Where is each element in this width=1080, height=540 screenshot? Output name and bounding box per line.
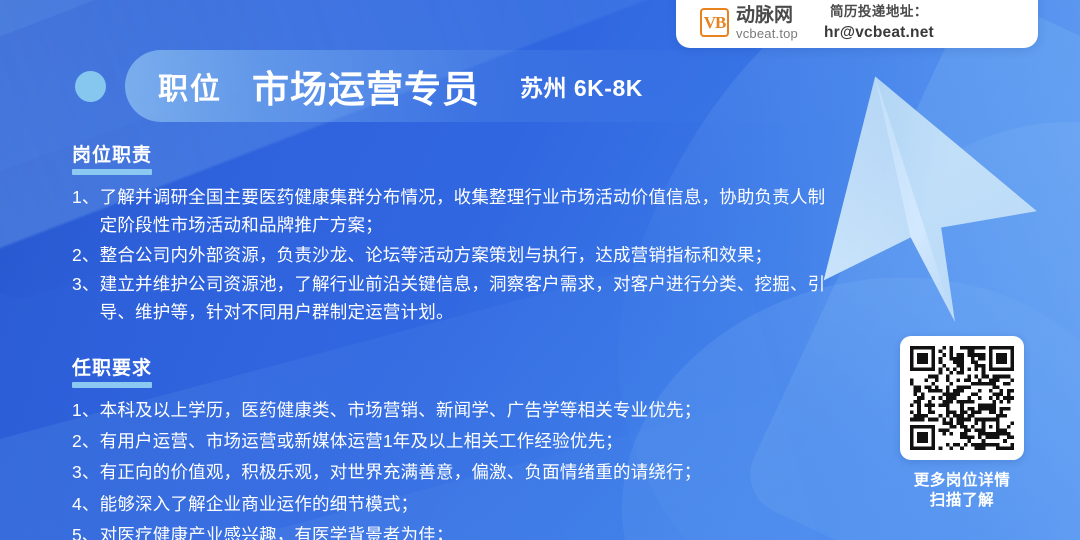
list-item-text: 对医疗健康产业感兴趣，有医学背景者为佳； bbox=[100, 521, 842, 540]
list-item-number: 1、 bbox=[72, 396, 100, 424]
brand-name-en: vcbeat.top bbox=[736, 27, 798, 40]
list-item-text: 有用户运营、市场运营或新媒体运营1年及以上相关工作经验优先； bbox=[100, 427, 842, 455]
qr-caption-line1: 更多岗位详情 bbox=[914, 471, 1011, 491]
list-item-text: 建立并维护公司资源池，了解行业前沿关键信息，洞察客户需求，对客户进行分类、挖掘、… bbox=[100, 270, 842, 327]
list-item-number: 2、 bbox=[72, 241, 100, 269]
brand-name-cn: 动脉网 bbox=[736, 6, 798, 25]
list-item: 5、 对医疗健康产业感兴趣，有医学背景者为佳； bbox=[72, 521, 842, 540]
list-item-text: 本科及以上学历，医药健康类、市场营销、新闻学、广告学等相关专业优先； bbox=[100, 396, 842, 424]
list-item-number: 3、 bbox=[72, 458, 100, 486]
list-item: 3、 建立并维护公司资源池，了解行业前沿关键信息，洞察客户需求，对客户进行分类、… bbox=[72, 270, 842, 327]
section-heading: 任职要求 bbox=[72, 353, 152, 388]
qr-block: 更多岗位详情 扫描了解 bbox=[898, 336, 1026, 512]
brand-logo: VB 动脉网 vcbeat.top bbox=[700, 6, 798, 40]
section-responsibilities: 岗位职责 1、 了解并调研全国主要医药健康集群分布情况，收集整理行业市场活动价值… bbox=[72, 140, 842, 327]
job-title-row: 职位 市场运营专员 苏州 6K-8K bbox=[158, 50, 643, 122]
list-item-number: 5、 bbox=[72, 521, 100, 540]
list-item-text: 了解并调研全国主要医药健康集群分布情况，收集整理行业市场活动价值信息，协助负责人… bbox=[100, 183, 842, 240]
qr-caption-line2: 扫描了解 bbox=[914, 491, 1011, 511]
list-item: 3、 有正向的价值观，积极乐观，对世界充满善意，偏激、负面情绪重的请绕行； bbox=[72, 458, 842, 486]
list-item: 1、 本科及以上学历，医药健康类、市场营销、新闻学、广告学等相关专业优先； bbox=[72, 396, 842, 424]
job-poster: VB 动脉网 vcbeat.top 简历投递地址： hr@vcbeat.net … bbox=[0, 0, 1080, 540]
list-item: 4、 能够深入了解企业商业运作的细节模式； bbox=[72, 490, 842, 518]
job-description: 岗位职责 1、 了解并调研全国主要医药健康集群分布情况，收集整理行业市场活动价值… bbox=[72, 140, 842, 540]
dot-icon bbox=[75, 71, 106, 102]
qr-caption: 更多岗位详情 扫描了解 bbox=[914, 471, 1011, 512]
list-item-text: 能够深入了解企业商业运作的细节模式； bbox=[100, 490, 842, 518]
section-spacer bbox=[72, 333, 842, 353]
contact-block: 简历投递地址： hr@vcbeat.net bbox=[824, 4, 934, 42]
page-title: 市场运营专员 bbox=[252, 59, 480, 113]
vb-logo-icon: VB bbox=[700, 8, 729, 37]
requirement-list: 1、 本科及以上学历，医药健康类、市场营销、新闻学、广告学等相关专业优先； 2、… bbox=[72, 396, 842, 540]
list-item-number: 1、 bbox=[72, 183, 100, 240]
list-item-number: 2、 bbox=[72, 427, 100, 455]
list-item: 1、 了解并调研全国主要医药健康集群分布情况，收集整理行业市场活动价值信息，协助… bbox=[72, 183, 842, 240]
responsibility-list: 1、 了解并调研全国主要医药健康集群分布情况，收集整理行业市场活动价值信息，协助… bbox=[72, 183, 842, 327]
list-item-text: 有正向的价值观，积极乐观，对世界充满善意，偏激、负面情绪重的请绕行； bbox=[100, 458, 842, 486]
contact-email[interactable]: hr@vcbeat.net bbox=[824, 23, 934, 42]
title-kicker: 职位 bbox=[158, 64, 222, 108]
qr-code-icon[interactable] bbox=[900, 336, 1024, 460]
list-item-number: 4、 bbox=[72, 490, 100, 518]
section-requirements: 任职要求 1、 本科及以上学历，医药健康类、市场营销、新闻学、广告学等相关专业优… bbox=[72, 353, 842, 540]
vb-logo-text: VB bbox=[704, 14, 726, 31]
section-heading: 岗位职责 bbox=[72, 140, 152, 175]
job-location-salary: 苏州 6K-8K bbox=[520, 69, 643, 103]
brand-contact-card: VB 动脉网 vcbeat.top 简历投递地址： hr@vcbeat.net bbox=[676, 0, 1038, 48]
list-item: 2、 有用户运营、市场运营或新媒体运营1年及以上相关工作经验优先； bbox=[72, 427, 842, 455]
list-item-text: 整合公司内外部资源，负责沙龙、论坛等活动方案策划与执行，达成营销指标和效果； bbox=[100, 241, 842, 269]
contact-label: 简历投递地址： bbox=[830, 4, 928, 21]
list-item: 2、 整合公司内外部资源，负责沙龙、论坛等活动方案策划与执行，达成营销指标和效果… bbox=[72, 241, 842, 269]
list-item-number: 3、 bbox=[72, 270, 100, 327]
